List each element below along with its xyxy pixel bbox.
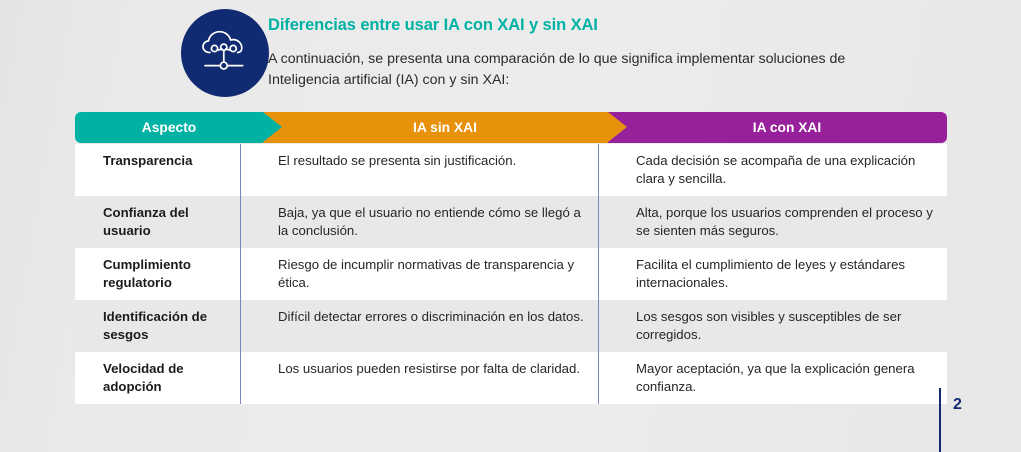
table-header-aspecto: Aspecto bbox=[75, 112, 263, 143]
table-row: Velocidad de adopción Los usuarios puede… bbox=[75, 352, 947, 404]
cell-aspect: Velocidad de adopción bbox=[75, 352, 240, 404]
page-number: 2 bbox=[953, 396, 962, 414]
column-divider-2 bbox=[598, 144, 599, 404]
cell-ia-sin-xai: Riesgo de incumplir normativas de transp… bbox=[240, 248, 598, 300]
cell-ia-sin-xai: El resultado se presenta sin justificaci… bbox=[240, 144, 598, 196]
cell-ia-con-xai: Facilita el cumplimiento de leyes y está… bbox=[598, 248, 947, 300]
column-divider-1 bbox=[240, 144, 241, 404]
page-title: Diferencias entre usar IA con XAI y sin … bbox=[268, 15, 968, 35]
comparison-table: Transparencia El resultado se presenta s… bbox=[75, 144, 947, 404]
cloud-network-icon bbox=[181, 9, 269, 97]
slide-canvas: Diferencias entre usar IA con XAI y sin … bbox=[0, 0, 1021, 452]
cell-ia-con-xai: Alta, porque los usuarios comprenden el … bbox=[598, 196, 947, 248]
page-subtitle: A continuación, se presenta una comparac… bbox=[268, 49, 918, 90]
cell-ia-con-xai: Mayor aceptación, ya que la explicación … bbox=[598, 352, 947, 404]
table-row: Confianza del usuario Baja, ya que el us… bbox=[75, 196, 947, 248]
table-header-ia-sin-xai: IA sin XAI bbox=[263, 112, 608, 143]
table-row: Cumplimiento regulatorio Riesgo de incum… bbox=[75, 248, 947, 300]
table-header-ia-con-xai: IA con XAI bbox=[608, 112, 947, 143]
table-header-band: Aspecto IA sin XAI IA con XAI bbox=[75, 112, 947, 143]
table-row: Transparencia El resultado se presenta s… bbox=[75, 144, 947, 196]
cell-ia-sin-xai: Los usuarios pueden resistirse por falta… bbox=[240, 352, 598, 404]
cell-aspect: Cumplimiento regulatorio bbox=[75, 248, 240, 300]
cell-aspect: Confianza del usuario bbox=[75, 196, 240, 248]
cell-ia-sin-xai: Difícil detectar errores o discriminació… bbox=[240, 300, 598, 352]
chevron-right-icon-orange bbox=[608, 112, 627, 142]
cell-ia-con-xai: Cada decisión se acompaña de una explica… bbox=[598, 144, 947, 196]
cell-ia-sin-xai: Baja, ya que el usuario no entiende cómo… bbox=[240, 196, 598, 248]
page-number-rule bbox=[939, 388, 941, 452]
cell-aspect: Identificación de sesgos bbox=[75, 300, 240, 352]
cell-aspect: Transparencia bbox=[75, 144, 240, 196]
table-row: Identificación de sesgos Difícil detecta… bbox=[75, 300, 947, 352]
cell-ia-con-xai: Los sesgos son visibles y susceptibles d… bbox=[598, 300, 947, 352]
chevron-right-icon-teal bbox=[263, 112, 282, 142]
